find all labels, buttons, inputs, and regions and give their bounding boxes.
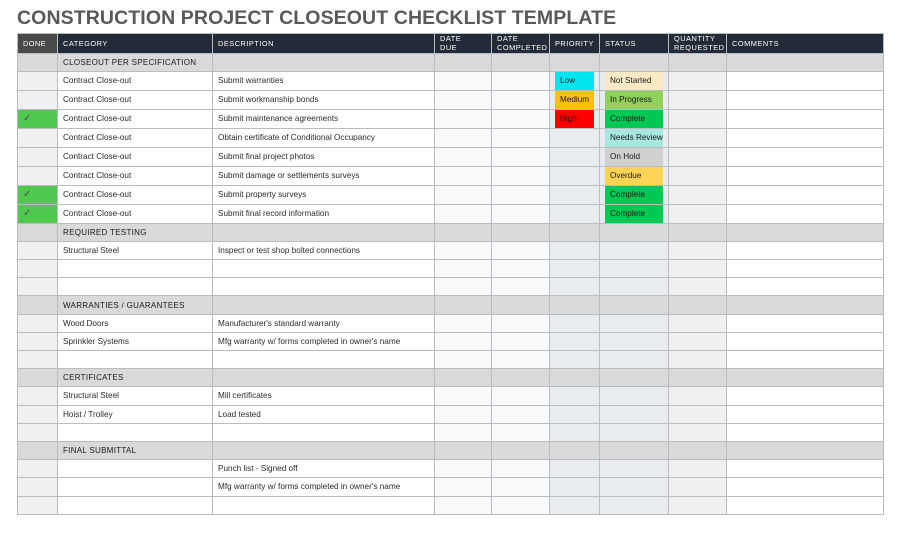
quantity-requested-cell[interactable] (669, 204, 727, 223)
priority-cell[interactable] (550, 147, 600, 166)
table-row: ✓Contract Close-outSubmit maintenance ag… (18, 109, 884, 128)
date-completed-cell[interactable] (492, 314, 550, 332)
column-header-priority[interactable]: PRIORITY (550, 34, 600, 54)
section-filler-cell (492, 223, 550, 241)
section-filler-cell (550, 369, 600, 387)
quantity-requested-cell[interactable] (669, 241, 727, 259)
date-due-cell[interactable] (435, 405, 492, 423)
description-cell[interactable]: Inspect or test shop bolted connections (213, 241, 435, 259)
section-filler-cell (600, 53, 669, 71)
description-cell[interactable] (213, 278, 435, 296)
comments-cell[interactable] (727, 351, 884, 369)
comments-cell[interactable] (727, 185, 884, 204)
description-cell[interactable]: Submit maintenance agreements (213, 109, 435, 128)
table-row: Contract Close-outObtain certificate of … (18, 128, 884, 147)
section-filler-cell (435, 441, 492, 459)
status-cell[interactable] (600, 278, 669, 296)
section-filler-cell (213, 53, 435, 71)
priority-cell[interactable] (550, 351, 600, 369)
comments-cell[interactable] (727, 204, 884, 223)
description-cell[interactable]: Mill certificates (213, 387, 435, 405)
description-cell[interactable]: Load tested (213, 405, 435, 423)
table-row: Sprinkler SystemsMfg warranty w/ forms c… (18, 332, 884, 350)
category-cell[interactable]: Contract Close-out (58, 90, 213, 109)
section-filler-cell (550, 53, 600, 71)
done-checkbox-cell[interactable] (18, 278, 58, 296)
table-header-row: DONE CATEGORY DESCRIPTION DATE DUE DATE … (18, 34, 884, 54)
category-cell[interactable] (58, 423, 213, 441)
priority-cell[interactable] (550, 405, 600, 423)
category-cell[interactable]: Contract Close-out (58, 185, 213, 204)
status-cell[interactable] (600, 387, 669, 405)
column-header-date-due-line1: DATE (440, 34, 486, 43)
quantity-requested-cell[interactable] (669, 460, 727, 478)
category-cell[interactable] (58, 460, 213, 478)
priority-badge: Low (555, 72, 594, 90)
comments-cell[interactable] (727, 460, 884, 478)
column-header-done[interactable]: DONE (18, 34, 58, 54)
date-due-cell[interactable] (435, 460, 492, 478)
quantity-requested-cell[interactable] (669, 278, 727, 296)
priority-badge: High (555, 110, 594, 128)
section-filler-cell (213, 441, 435, 459)
date-due-cell[interactable] (435, 185, 492, 204)
category-cell[interactable]: Contract Close-out (58, 147, 213, 166)
table-row (18, 260, 884, 278)
date-completed-cell[interactable] (492, 332, 550, 350)
description-cell[interactable]: Submit property surveys (213, 185, 435, 204)
category-cell[interactable]: Contract Close-out (58, 71, 213, 90)
category-cell[interactable]: Contract Close-out (58, 166, 213, 185)
closeout-checklist-table: DONE CATEGORY DESCRIPTION DATE DUE DATE … (17, 33, 884, 515)
table-body: CLOSEOUT PER SPECIFICATIONContract Close… (18, 53, 884, 514)
category-cell[interactable]: Hoist / Trolley (58, 405, 213, 423)
section-filler-cell (727, 53, 884, 71)
table-row: Structural SteelInspect or test shop bol… (18, 241, 884, 259)
done-checkbox-cell[interactable]: ✓ (18, 204, 58, 223)
priority-cell[interactable]: High (550, 109, 600, 128)
section-filler-cell (727, 369, 884, 387)
quantity-requested-cell[interactable] (669, 496, 727, 514)
done-checkbox-cell[interactable] (18, 260, 58, 278)
date-due-cell[interactable] (435, 241, 492, 259)
date-completed-cell[interactable] (492, 387, 550, 405)
status-cell[interactable]: Complete (600, 185, 669, 204)
description-cell[interactable] (213, 260, 435, 278)
section-filler-cell (492, 53, 550, 71)
status-badge: Complete (605, 186, 663, 204)
category-cell[interactable]: Wood Doors (58, 314, 213, 332)
category-cell[interactable]: Contract Close-out (58, 204, 213, 223)
section-filler-cell (727, 296, 884, 314)
priority-cell[interactable] (550, 332, 600, 350)
category-cell[interactable] (58, 478, 213, 496)
date-completed-cell[interactable] (492, 460, 550, 478)
category-cell[interactable] (58, 260, 213, 278)
section-header-row: REQUIRED TESTING (18, 223, 884, 241)
date-due-cell[interactable] (435, 314, 492, 332)
column-header-date-completed-line1: DATE (497, 34, 544, 43)
priority-cell[interactable] (550, 314, 600, 332)
status-badge: Not Started (605, 72, 663, 90)
date-due-cell[interactable] (435, 478, 492, 496)
date-completed-cell[interactable] (492, 128, 550, 147)
date-due-cell[interactable] (435, 71, 492, 90)
column-header-quantity-requested[interactable]: QUANTITY REQUESTED (669, 34, 727, 54)
done-checkbox-cell[interactable] (18, 423, 58, 441)
description-cell[interactable]: Mfg warranty w/ forms completed in owner… (213, 332, 435, 350)
table-row: ✓Contract Close-outSubmit final record i… (18, 204, 884, 223)
status-badge: Overdue (605, 167, 663, 185)
section-done-cell (18, 369, 58, 387)
quantity-requested-cell[interactable] (669, 405, 727, 423)
comments-cell[interactable] (727, 90, 884, 109)
date-due-cell[interactable] (435, 351, 492, 369)
status-badge: Needs Review (605, 129, 663, 147)
quantity-requested-cell[interactable] (669, 423, 727, 441)
section-filler-cell (600, 296, 669, 314)
section-title: WARRANTIES / GUARANTEES (58, 296, 213, 314)
column-header-status[interactable]: STATUS (600, 34, 669, 54)
priority-cell[interactable] (550, 387, 600, 405)
status-cell[interactable]: In Progress (600, 90, 669, 109)
status-badge: In Progress (605, 91, 663, 109)
category-cell[interactable]: Structural Steel (58, 241, 213, 259)
column-header-comments[interactable]: COMMENTS (727, 34, 884, 54)
description-cell[interactable]: Submit damage or settlements surveys (213, 166, 435, 185)
table-row (18, 351, 884, 369)
status-badge: Complete (605, 110, 663, 128)
section-header-row: FINAL SUBMITTAL (18, 441, 884, 459)
category-cell[interactable]: Contract Close-out (58, 109, 213, 128)
status-cell[interactable] (600, 241, 669, 259)
table-row (18, 423, 884, 441)
done-checkbox-cell[interactable] (18, 241, 58, 259)
date-completed-cell[interactable] (492, 496, 550, 514)
date-completed-cell[interactable] (492, 278, 550, 296)
comments-cell[interactable] (727, 166, 884, 185)
table-row: Punch list - Signed off (18, 460, 884, 478)
comments-cell[interactable] (727, 241, 884, 259)
date-completed-cell[interactable] (492, 147, 550, 166)
table-row: Contract Close-outSubmit warrantiesLowNo… (18, 71, 884, 90)
quantity-requested-cell[interactable] (669, 260, 727, 278)
section-done-cell (18, 296, 58, 314)
priority-cell[interactable]: Medium (550, 90, 600, 109)
check-icon: ✓ (23, 190, 31, 200)
table-header: DONE CATEGORY DESCRIPTION DATE DUE DATE … (18, 34, 884, 54)
section-filler-cell (550, 296, 600, 314)
status-cell[interactable]: On Hold (600, 147, 669, 166)
status-badge: On Hold (605, 148, 663, 166)
priority-badge: Medium (555, 91, 594, 109)
quantity-requested-cell[interactable] (669, 351, 727, 369)
priority-cell[interactable] (550, 204, 600, 223)
section-done-cell (18, 53, 58, 71)
date-due-cell[interactable] (435, 260, 492, 278)
quantity-requested-cell[interactable] (669, 387, 727, 405)
description-cell[interactable]: Submit final record information (213, 204, 435, 223)
section-filler-cell (435, 223, 492, 241)
section-filler-cell (727, 223, 884, 241)
done-checkbox-cell[interactable] (18, 387, 58, 405)
status-cell[interactable]: Complete (600, 204, 669, 223)
section-filler-cell (669, 53, 727, 71)
comments-cell[interactable] (727, 128, 884, 147)
priority-cell[interactable] (550, 496, 600, 514)
status-cell[interactable]: Complete (600, 109, 669, 128)
status-cell[interactable]: Needs Review (600, 128, 669, 147)
quantity-requested-cell[interactable] (669, 147, 727, 166)
table-row: Contract Close-outSubmit workmanship bon… (18, 90, 884, 109)
table-row: Contract Close-outSubmit damage or settl… (18, 166, 884, 185)
table-row: ✓Contract Close-outSubmit property surve… (18, 185, 884, 204)
done-checkbox-cell[interactable] (18, 332, 58, 350)
description-cell[interactable] (213, 496, 435, 514)
section-filler-cell (550, 441, 600, 459)
section-filler-cell (213, 369, 435, 387)
section-title: CLOSEOUT PER SPECIFICATION (58, 53, 213, 71)
section-filler-cell (492, 441, 550, 459)
section-filler-cell (669, 441, 727, 459)
column-header-date-completed-line2: COMPLETED (497, 43, 544, 52)
table-row: Structural SteelMill certificates (18, 387, 884, 405)
status-badge: Complete (605, 205, 663, 223)
description-cell[interactable]: Mfg warranty w/ forms completed in owner… (213, 478, 435, 496)
section-filler-cell (669, 296, 727, 314)
done-checkbox-cell[interactable] (18, 478, 58, 496)
comments-cell[interactable] (727, 260, 884, 278)
priority-cell[interactable] (550, 166, 600, 185)
section-filler-cell (669, 223, 727, 241)
status-cell[interactable] (600, 405, 669, 423)
done-checkbox-cell[interactable] (18, 405, 58, 423)
description-cell[interactable]: Submit workmanship bonds (213, 90, 435, 109)
done-checkbox-cell[interactable] (18, 166, 58, 185)
section-filler-cell (213, 223, 435, 241)
section-title: CERTIFICATES (58, 369, 213, 387)
date-completed-cell[interactable] (492, 241, 550, 259)
comments-cell[interactable] (727, 405, 884, 423)
date-completed-cell[interactable] (492, 351, 550, 369)
quantity-requested-cell[interactable] (669, 128, 727, 147)
done-checkbox-cell[interactable]: ✓ (18, 185, 58, 204)
status-cell[interactable] (600, 496, 669, 514)
section-filler-cell (600, 223, 669, 241)
done-checkbox-cell[interactable] (18, 71, 58, 90)
priority-cell[interactable] (550, 460, 600, 478)
category-cell[interactable]: Structural Steel (58, 387, 213, 405)
column-header-category[interactable]: CATEGORY (58, 34, 213, 54)
priority-cell[interactable] (550, 260, 600, 278)
section-title: FINAL SUBMITTAL (58, 441, 213, 459)
done-checkbox-cell[interactable] (18, 496, 58, 514)
date-due-cell[interactable] (435, 147, 492, 166)
section-header-row: WARRANTIES / GUARANTEES (18, 296, 884, 314)
date-due-cell[interactable] (435, 166, 492, 185)
comments-cell[interactable] (727, 423, 884, 441)
date-completed-cell[interactable] (492, 90, 550, 109)
description-cell[interactable] (213, 423, 435, 441)
date-due-cell[interactable] (435, 496, 492, 514)
quantity-requested-cell[interactable] (669, 314, 727, 332)
done-checkbox-cell[interactable] (18, 147, 58, 166)
column-header-description[interactable]: DESCRIPTION (213, 34, 435, 54)
section-title: REQUIRED TESTING (58, 223, 213, 241)
table-row: Hoist / TrolleyLoad tested (18, 405, 884, 423)
section-filler-cell (435, 296, 492, 314)
checklist-page: CONSTRUCTION PROJECT CLOSEOUT CHECKLIST … (0, 0, 900, 550)
quantity-requested-cell[interactable] (669, 71, 727, 90)
status-cell[interactable]: Overdue (600, 166, 669, 185)
quantity-requested-cell[interactable] (669, 185, 727, 204)
status-cell[interactable] (600, 478, 669, 496)
comments-cell[interactable] (727, 314, 884, 332)
page-title: CONSTRUCTION PROJECT CLOSEOUT CHECKLIST … (17, 5, 877, 31)
description-cell[interactable]: Submit final project photos (213, 147, 435, 166)
description-cell[interactable]: Punch list - Signed off (213, 460, 435, 478)
section-filler-cell (669, 369, 727, 387)
date-due-cell[interactable] (435, 204, 492, 223)
date-completed-cell[interactable] (492, 185, 550, 204)
date-due-cell[interactable] (435, 90, 492, 109)
description-cell[interactable] (213, 351, 435, 369)
section-filler-cell (600, 441, 669, 459)
date-completed-cell[interactable] (492, 423, 550, 441)
section-filler-cell (213, 296, 435, 314)
comments-cell[interactable] (727, 387, 884, 405)
date-completed-cell[interactable] (492, 405, 550, 423)
status-cell[interactable] (600, 460, 669, 478)
table-row: Contract Close-outSubmit final project p… (18, 147, 884, 166)
priority-cell[interactable] (550, 241, 600, 259)
comments-cell[interactable] (727, 332, 884, 350)
check-icon: ✓ (23, 114, 31, 124)
priority-cell[interactable] (550, 185, 600, 204)
section-filler-cell (550, 223, 600, 241)
quantity-requested-cell[interactable] (669, 166, 727, 185)
status-cell[interactable]: Not Started (600, 71, 669, 90)
section-filler-cell (492, 369, 550, 387)
priority-cell[interactable] (550, 423, 600, 441)
table-row: Wood DoorsManufacturer's standard warran… (18, 314, 884, 332)
comments-cell[interactable] (727, 147, 884, 166)
priority-cell[interactable]: Low (550, 71, 600, 90)
category-cell[interactable] (58, 278, 213, 296)
date-completed-cell[interactable] (492, 109, 550, 128)
section-done-cell (18, 441, 58, 459)
done-checkbox-cell[interactable] (18, 90, 58, 109)
section-filler-cell (600, 369, 669, 387)
check-icon: ✓ (23, 209, 31, 219)
comments-cell[interactable] (727, 496, 884, 514)
quantity-requested-cell[interactable] (669, 478, 727, 496)
comments-cell[interactable] (727, 278, 884, 296)
quantity-requested-cell[interactable] (669, 109, 727, 128)
category-cell[interactable]: Sprinkler Systems (58, 332, 213, 350)
description-cell[interactable]: Submit warranties (213, 71, 435, 90)
done-checkbox-cell[interactable]: ✓ (18, 109, 58, 128)
section-header-row: CERTIFICATES (18, 369, 884, 387)
date-due-cell[interactable] (435, 387, 492, 405)
table-row (18, 496, 884, 514)
done-checkbox-cell[interactable] (18, 460, 58, 478)
section-filler-cell (435, 369, 492, 387)
column-header-date-due-line2: DUE (440, 43, 486, 52)
section-filler-cell (727, 441, 884, 459)
date-completed-cell[interactable] (492, 166, 550, 185)
category-cell[interactable] (58, 496, 213, 514)
section-filler-cell (492, 296, 550, 314)
table-row (18, 278, 884, 296)
quantity-requested-cell[interactable] (669, 90, 727, 109)
status-cell[interactable] (600, 423, 669, 441)
section-header-row: CLOSEOUT PER SPECIFICATION (18, 53, 884, 71)
column-header-date-due[interactable]: DATE DUE (435, 34, 492, 54)
status-cell[interactable] (600, 351, 669, 369)
column-header-date-completed[interactable]: DATE COMPLETED (492, 34, 550, 54)
status-cell[interactable] (600, 332, 669, 350)
date-completed-cell[interactable] (492, 478, 550, 496)
date-due-cell[interactable] (435, 278, 492, 296)
done-checkbox-cell[interactable] (18, 314, 58, 332)
description-cell[interactable]: Manufacturer's standard warranty (213, 314, 435, 332)
status-cell[interactable] (600, 314, 669, 332)
priority-cell[interactable] (550, 278, 600, 296)
column-header-quantity-line2: REQUESTED (674, 43, 721, 52)
description-cell[interactable]: Obtain certificate of Conditional Occupa… (213, 128, 435, 147)
date-due-cell[interactable] (435, 423, 492, 441)
priority-cell[interactable] (550, 478, 600, 496)
priority-cell[interactable] (550, 128, 600, 147)
date-due-cell[interactable] (435, 332, 492, 350)
table-row: Mfg warranty w/ forms completed in owner… (18, 478, 884, 496)
status-cell[interactable] (600, 260, 669, 278)
comments-cell[interactable] (727, 478, 884, 496)
section-filler-cell (435, 53, 492, 71)
date-due-cell[interactable] (435, 128, 492, 147)
done-checkbox-cell[interactable] (18, 128, 58, 147)
category-cell[interactable]: Contract Close-out (58, 128, 213, 147)
column-header-quantity-line1: QUANTITY (674, 34, 721, 43)
section-done-cell (18, 223, 58, 241)
date-completed-cell[interactable] (492, 204, 550, 223)
category-cell[interactable] (58, 351, 213, 369)
comments-cell[interactable] (727, 109, 884, 128)
comments-cell[interactable] (727, 71, 884, 90)
date-completed-cell[interactable] (492, 260, 550, 278)
quantity-requested-cell[interactable] (669, 332, 727, 350)
date-due-cell[interactable] (435, 109, 492, 128)
date-completed-cell[interactable] (492, 71, 550, 90)
done-checkbox-cell[interactable] (18, 351, 58, 369)
